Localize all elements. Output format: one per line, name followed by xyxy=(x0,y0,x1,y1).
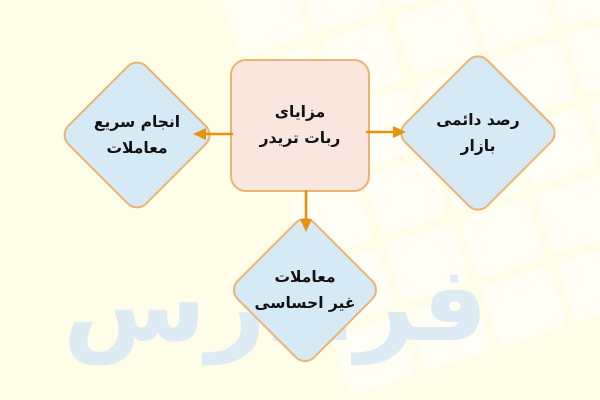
arrow-center-to-bottom-icon xyxy=(296,190,316,232)
watermark-tile xyxy=(557,242,600,323)
center-node-line-1: مزایای xyxy=(275,100,325,125)
watermark-tile xyxy=(385,223,471,304)
center-node[interactable]: مزایای ربات تریدر xyxy=(230,59,370,192)
watermark-tile xyxy=(297,0,383,34)
diagram-canvas: فرادرس انجام سریع معاملات رصد دائمی بازا… xyxy=(0,0,600,400)
watermark-tile xyxy=(372,0,458,9)
watermark-tile xyxy=(222,0,308,58)
branch-node-right-shape[interactable] xyxy=(395,50,562,217)
watermark-tile xyxy=(407,291,493,372)
watermark-tile xyxy=(469,0,555,52)
branch-node-bottom-shape[interactable] xyxy=(227,212,383,368)
watermark-tile xyxy=(482,266,568,347)
center-node-line-2: ربات تریدر xyxy=(260,126,341,151)
watermark-tile xyxy=(535,174,600,255)
watermark-tile xyxy=(460,199,546,280)
watermark-tile xyxy=(566,15,600,96)
watermark-tile xyxy=(544,0,600,28)
arrow-center-to-left-icon xyxy=(193,124,233,144)
watermark-tile xyxy=(588,82,600,163)
arrow-center-to-right-icon xyxy=(366,122,406,142)
